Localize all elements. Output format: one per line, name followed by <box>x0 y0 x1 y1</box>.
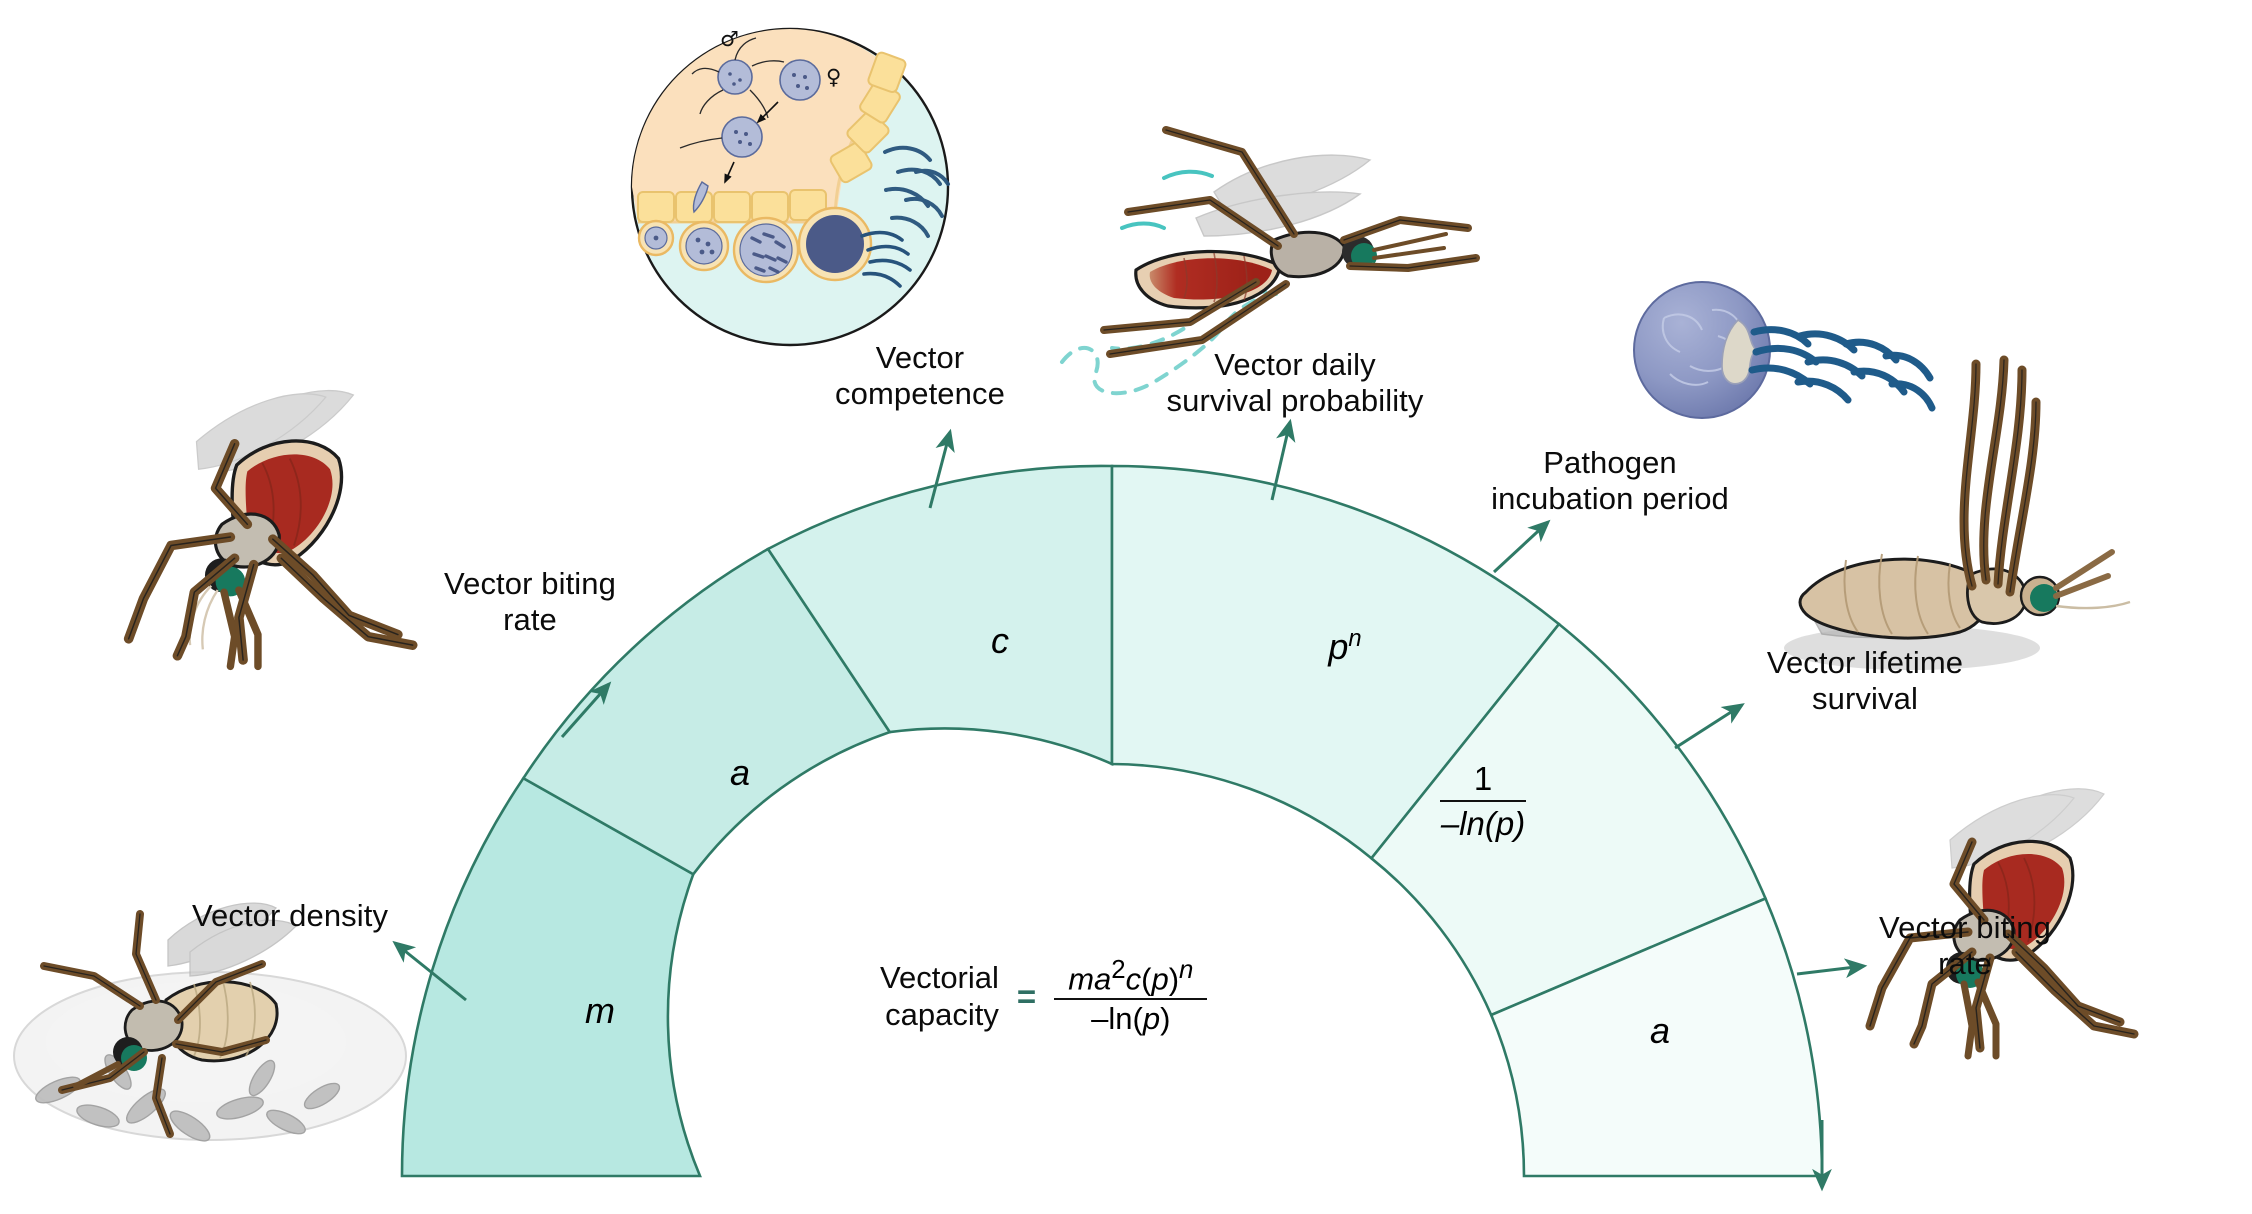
label-vector-biting-rate-left: Vector biting rate <box>415 566 645 639</box>
label-vector-lifetime-survival: Vector lifetime survival <box>1740 645 1990 718</box>
inv-ln-numerator: 1 <box>1474 760 1492 800</box>
label-pathogen-incubation-period: Pathogen incubation period <box>1450 445 1770 518</box>
num-a-exponent: 2 <box>1111 956 1125 984</box>
segment-symbol-a-right: a <box>1620 1010 1700 1052</box>
num-p: p <box>1151 961 1168 996</box>
label-vector-biting-rate-right: Vector biting rate <box>1850 910 2080 983</box>
segment-symbol-c: c <box>960 620 1040 662</box>
num-p-exponent: n <box>1179 956 1193 984</box>
segment-symbol-a-left: a <box>700 752 780 794</box>
label-vector-daily-survival-probability: Vector daily survival probability <box>1135 347 1455 420</box>
segment-symbol-inv-ln-p: 1 –ln(p) <box>1440 760 1526 843</box>
num-close-paren: ) <box>1169 961 1179 996</box>
label-vector-competence: Vector competence <box>805 340 1035 413</box>
equation-left-hand-side: Vectorial capacity <box>880 960 999 1033</box>
den-minus: – <box>1091 1001 1108 1036</box>
den-p: p <box>1143 1001 1160 1036</box>
segment-symbol-m: m <box>560 990 640 1032</box>
label-vector-density: Vector density <box>180 898 400 934</box>
den-ln: ln <box>1108 1001 1132 1036</box>
segment-symbol-p-base: p <box>1328 626 1348 667</box>
vectorial-capacity-equation: Vectorial capacity = ma2c(p)n –ln(p) <box>880 955 1400 1038</box>
den-open-paren: ( <box>1133 1001 1143 1036</box>
den-close-paren: ) <box>1160 1001 1170 1036</box>
inv-ln-denominator: –ln(p) <box>1441 802 1525 843</box>
num-m: m <box>1068 961 1094 996</box>
figure-canvas: ♂ ♀ <box>0 0 2252 1214</box>
num-open-paren: ( <box>1141 961 1151 996</box>
equation-numerator: ma2c(p)n <box>1054 955 1207 998</box>
segment-symbol-p-n: pn <box>1290 625 1400 668</box>
num-a: a <box>1094 961 1111 996</box>
equation-equals-sign: = <box>1017 978 1036 1016</box>
num-c: c <box>1126 961 1142 996</box>
segment-symbol-p-exponent: n <box>1348 625 1361 652</box>
equation-fraction: ma2c(p)n –ln(p) <box>1054 955 1207 1038</box>
equation-denominator: –ln(p) <box>1077 1000 1184 1038</box>
